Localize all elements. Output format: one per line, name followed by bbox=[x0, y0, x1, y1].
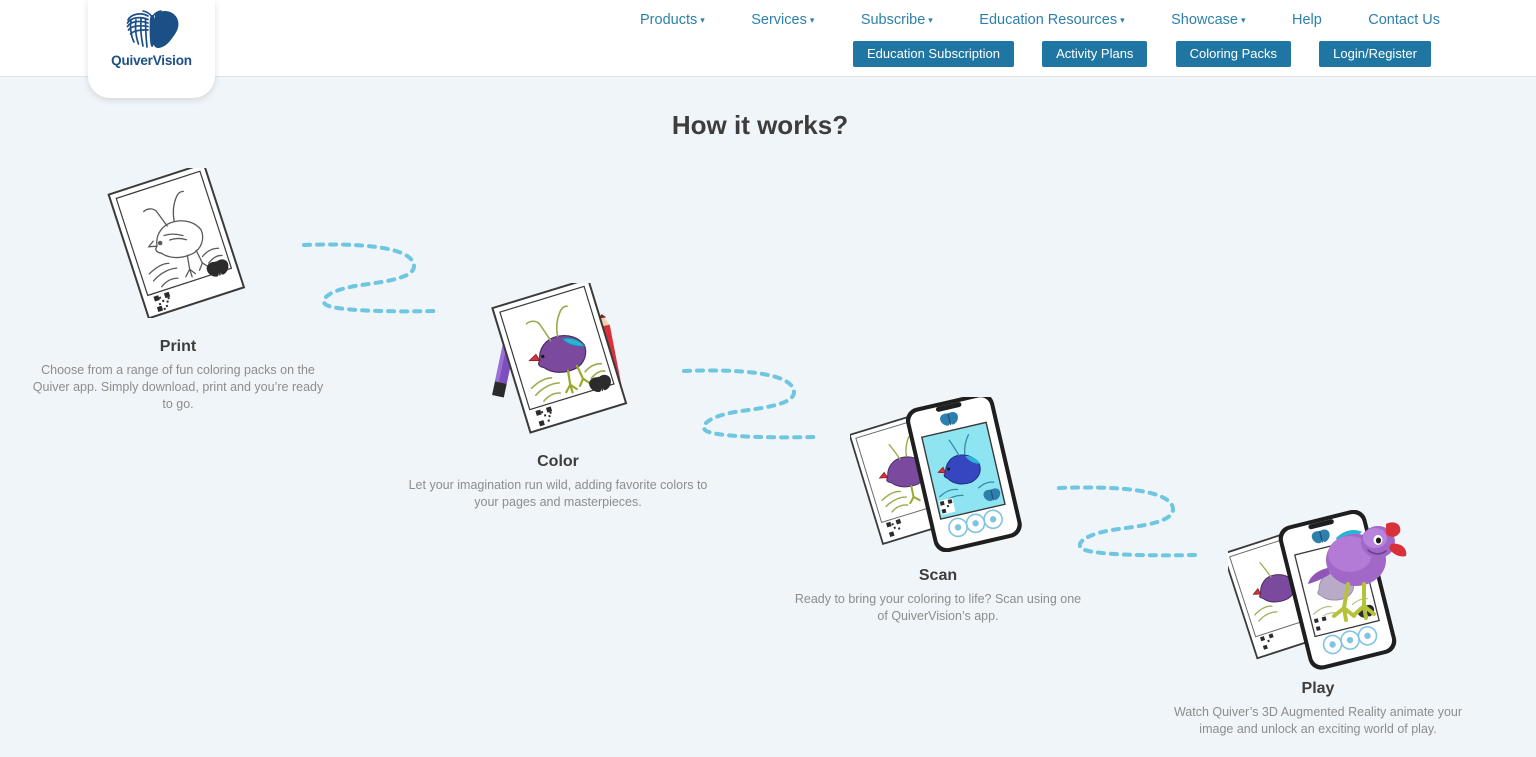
step-color-text: Color Let your imagination run wild, add… bbox=[408, 453, 708, 511]
nav-item-education-resources-label: Education Resources bbox=[979, 12, 1117, 28]
chevron-down-icon: ▾ bbox=[810, 15, 815, 25]
connector-print-to-color bbox=[300, 232, 440, 327]
nav-item-education-resources[interactable]: Education Resources▾ bbox=[979, 12, 1124, 28]
nav-item-subscribe[interactable]: Subscribe▾ bbox=[861, 12, 933, 28]
step-color-description: Let your imagination run wild, adding fa… bbox=[408, 477, 708, 511]
step-play-description: Watch Quiver’s 3D Augmented Reality anim… bbox=[1168, 704, 1468, 738]
chevron-down-icon: ▾ bbox=[928, 15, 933, 25]
chevron-down-icon: ▾ bbox=[700, 15, 705, 25]
step-scan-description: Ready to bring your coloring to life? Sc… bbox=[788, 591, 1088, 625]
nav-item-products[interactable]: Products▾ bbox=[640, 12, 705, 28]
step-color-title: Color bbox=[408, 453, 708, 471]
connector-scan-to-play bbox=[1055, 474, 1200, 571]
nav-item-showcase-label: Showcase bbox=[1171, 12, 1238, 28]
connector-color-to-scan bbox=[680, 358, 820, 453]
step-print-description: Choose from a range of fun coloring pack… bbox=[28, 362, 328, 413]
logo-wordmark: QuiverVision bbox=[111, 53, 192, 68]
logo-card[interactable]: QuiverVision bbox=[88, 0, 215, 98]
main-navigation: Products▾ Services▾ Subscribe▾ Education… bbox=[640, 8, 1440, 32]
nav-item-help[interactable]: Help bbox=[1292, 12, 1322, 28]
login-register-button[interactable]: Login/Register bbox=[1319, 41, 1431, 67]
chevron-down-icon: ▾ bbox=[1120, 15, 1125, 25]
nav-item-services[interactable]: Services▾ bbox=[751, 12, 814, 28]
step-play-text: Play Watch Quiver’s 3D Augmented Reality… bbox=[1168, 680, 1468, 738]
step-scan-title: Scan bbox=[788, 567, 1088, 585]
step-print-title: Print bbox=[28, 338, 328, 356]
nav-item-subscribe-label: Subscribe bbox=[861, 12, 925, 28]
step-play-title: Play bbox=[1168, 680, 1468, 698]
nav-item-showcase[interactable]: Showcase▾ bbox=[1171, 12, 1245, 28]
education-subscription-button[interactable]: Education Subscription bbox=[853, 41, 1014, 67]
chevron-down-icon: ▾ bbox=[1241, 15, 1246, 25]
coloring-packs-button[interactable]: Coloring Packs bbox=[1176, 41, 1291, 67]
nav-item-products-label: Products bbox=[640, 12, 697, 28]
nav-item-services-label: Services bbox=[751, 12, 807, 28]
header-action-buttons: Education Subscription Activity Plans Co… bbox=[853, 41, 1431, 67]
step-print-text: Print Choose from a range of fun colorin… bbox=[28, 338, 328, 413]
step-scan-text: Scan Ready to bring your coloring to lif… bbox=[788, 567, 1088, 625]
page-title: How it works? bbox=[0, 110, 1520, 141]
activity-plans-button[interactable]: Activity Plans bbox=[1042, 41, 1147, 67]
butterfly-logo-icon bbox=[121, 9, 183, 51]
nav-item-contact-us[interactable]: Contact Us bbox=[1368, 12, 1440, 28]
site-header: Products▾ Services▾ Subscribe▾ Education… bbox=[0, 0, 1536, 77]
